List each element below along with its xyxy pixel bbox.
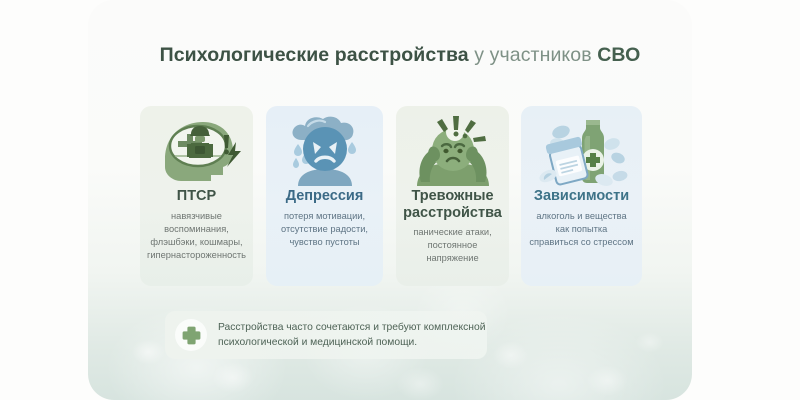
card-ptsr[interactable]: ПТСР навязчивые воспоминания, флэшбэки, … (140, 106, 253, 286)
card-title: Зависимости (521, 188, 642, 205)
stressed-head-exclamation-icon (396, 113, 509, 187)
bottle-pills-icon (521, 113, 642, 187)
disorder-card-list: ПТСР навязчивые воспоминания, флэшбэки, … (140, 106, 642, 286)
card-title: Депрессия (266, 188, 383, 205)
card-description: панические атаки, постоянное напряжение (396, 226, 509, 265)
card-title: Тревожные расстройства (396, 188, 509, 221)
card-description: потеря мотивации, отсутствие радости, чу… (266, 210, 383, 249)
page-title-accent: СВО (597, 44, 640, 66)
head-soldier-icon (140, 113, 253, 187)
footer-note-text: Расстройства часто сочетаются и требуют … (218, 320, 485, 350)
page-title-secondary: у участников (469, 44, 597, 66)
footer-note: Расстройства часто сочетаются и требуют … (165, 311, 487, 359)
infographic-canvas: Психологические расстройства у участнико… (0, 0, 800, 400)
card-description: навязчивые воспоминания, флэшбэки, кошма… (140, 210, 253, 262)
card-depression[interactable]: Депрессия потеря мотивации, отсутствие р… (266, 106, 383, 286)
card-description: алкоголь и вещества как попытка справить… (521, 210, 642, 249)
page-title-main: Психологические расстройства (160, 44, 469, 66)
sad-face-rain-cloud-icon (266, 113, 383, 187)
card-addiction[interactable]: Зависимости алкоголь и вещества как попы… (521, 106, 642, 286)
medical-cross-icon (175, 319, 207, 351)
card-title: ПТСР (140, 188, 253, 205)
page-title: Психологические расстройства у участнико… (0, 44, 800, 67)
card-anxiety[interactable]: Тревожные расстройства панические атаки,… (396, 106, 509, 286)
